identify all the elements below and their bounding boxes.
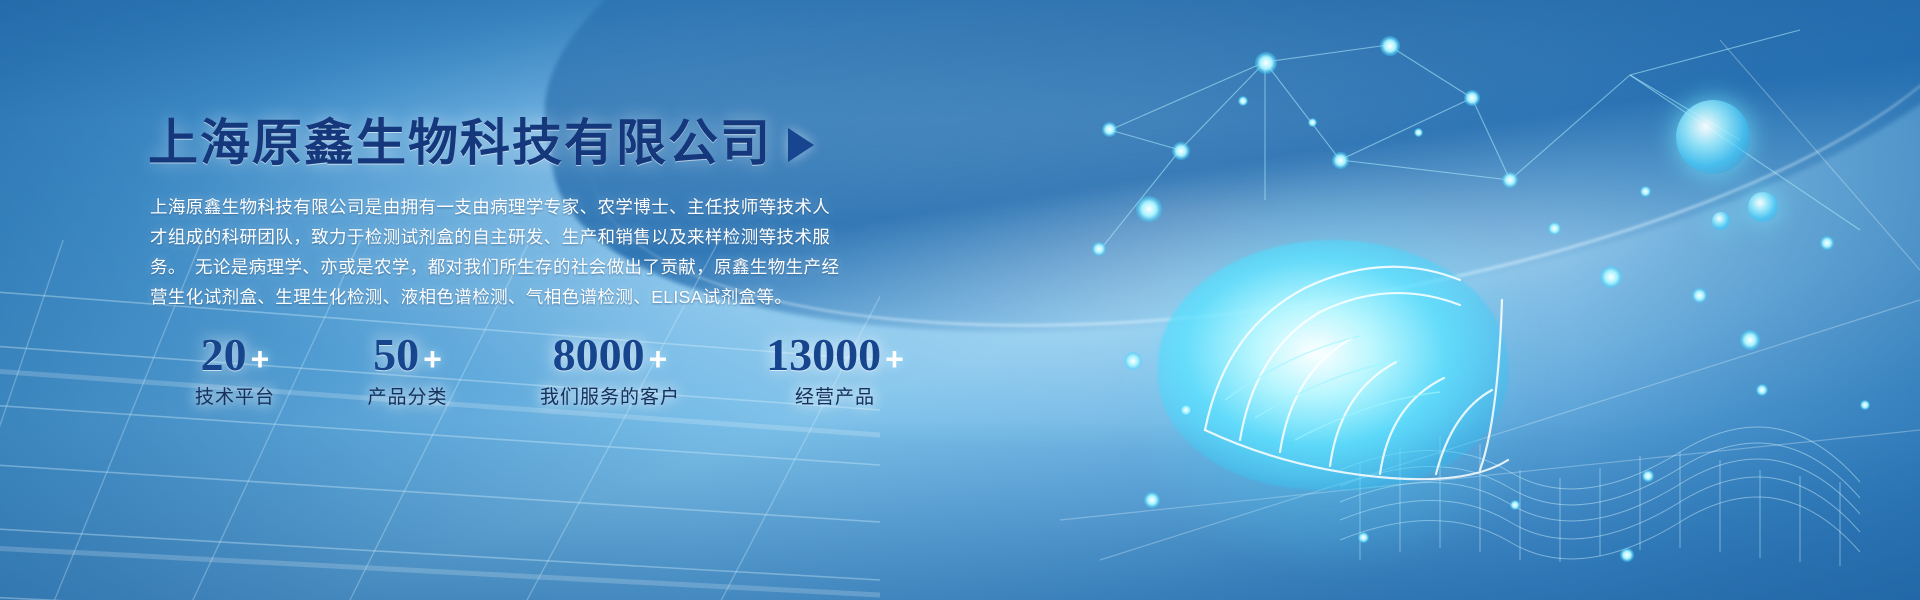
stat-number-row: 8000 +: [495, 332, 725, 378]
stat-number-row: 13000 +: [725, 332, 945, 378]
stats-row: 20 + 技术平台 50 + 产品分类 8000 + 我们服务的客户: [150, 332, 945, 409]
stat-label: 技术平台: [150, 382, 320, 409]
page-title: 上海原鑫生物科技有限公司: [148, 118, 772, 168]
hero-content: 上海原鑫生物科技有限公司 上海原鑫生物科技有限公司是由拥有一支由病理学专家、农学…: [148, 0, 1028, 600]
glow-dot: [1172, 142, 1190, 160]
glow-dot: [1860, 400, 1870, 410]
cell-sphere-icon: [1748, 192, 1778, 222]
glow-dot: [1502, 172, 1518, 188]
play-triangle-icon[interactable]: [788, 128, 814, 162]
stat-suffix: +: [885, 343, 904, 375]
stat-suffix: +: [251, 343, 270, 375]
glow-dot: [1144, 492, 1160, 508]
title-row: 上海原鑫生物科技有限公司: [148, 118, 814, 168]
stat-number-row: 50 +: [320, 332, 495, 378]
paragraph-line: 务。 无论是病理学、亦或是农学，都对我们所生存的社会做出了贡献，原鑫生物生产经: [150, 252, 962, 282]
hero-banner: 上海原鑫生物科技有限公司 上海原鑫生物科技有限公司是由拥有一支由病理学专家、农学…: [0, 0, 1920, 600]
stat-number-row: 20 +: [150, 332, 320, 378]
stat-item: 20 + 技术平台: [150, 332, 320, 409]
stat-label: 我们服务的客户: [495, 382, 725, 409]
glow-dot: [1640, 186, 1651, 197]
stat-label: 经营产品: [725, 382, 945, 409]
stat-item: 13000 + 经营产品: [725, 332, 945, 409]
glow-dot: [1102, 122, 1117, 137]
stat-suffix: +: [649, 343, 668, 375]
paragraph-line: 营生化试剂盒、生理生化检测、液相色谱检测、气相色谱检测、ELISA试剂盒等。: [150, 282, 962, 312]
glow-dot: [1124, 352, 1142, 370]
intro-paragraph: 上海原鑫生物科技有限公司是由拥有一支由病理学专家、农学博士、主任技师等技术人 才…: [150, 192, 962, 312]
stat-number: 50: [373, 332, 419, 378]
glow-dot: [1464, 90, 1480, 106]
glow-dot: [1600, 266, 1622, 288]
glow-dot: [1510, 500, 1520, 510]
stat-number: 20: [201, 332, 247, 378]
glow-dot: [1740, 330, 1760, 350]
glow-dot: [1358, 532, 1369, 543]
stat-item: 8000 + 我们服务的客户: [495, 332, 725, 409]
glow-dot: [1180, 404, 1192, 416]
stat-suffix: +: [423, 343, 442, 375]
glow-dot: [1642, 470, 1654, 482]
glow-dot: [1136, 196, 1162, 222]
glow-dot: [1092, 242, 1106, 256]
glow-dot: [1332, 152, 1349, 169]
brain-folds-icon: [1040, 0, 1920, 600]
cell-sphere-icon: [1712, 212, 1730, 230]
paragraph-line: 上海原鑫生物科技有限公司是由拥有一支由病理学专家、农学博士、主任技师等技术人: [150, 192, 962, 222]
person-marker-icon: [1756, 384, 1768, 396]
stat-label: 产品分类: [320, 382, 495, 409]
stat-number: 13000: [766, 332, 881, 378]
stat-item: 50 + 产品分类: [320, 332, 495, 409]
glow-dot: [1820, 236, 1834, 250]
glow-dot: [1692, 288, 1707, 303]
tech-graphic: [1040, 0, 1920, 600]
glow-dot: [1255, 52, 1277, 74]
glow-dot: [1308, 118, 1317, 127]
glow-dot: [1414, 128, 1423, 137]
cell-sphere-icon: [1676, 100, 1750, 174]
glow-dot: [1238, 96, 1248, 106]
glow-dot: [1380, 36, 1400, 56]
person-marker-icon: [1620, 548, 1634, 562]
stat-number: 8000: [553, 332, 645, 378]
paragraph-line: 才组成的科研团队，致力于检测试剂盒的自主研发、生产和销售以及来样检测等技术服: [150, 222, 962, 252]
glow-dot: [1548, 222, 1561, 235]
